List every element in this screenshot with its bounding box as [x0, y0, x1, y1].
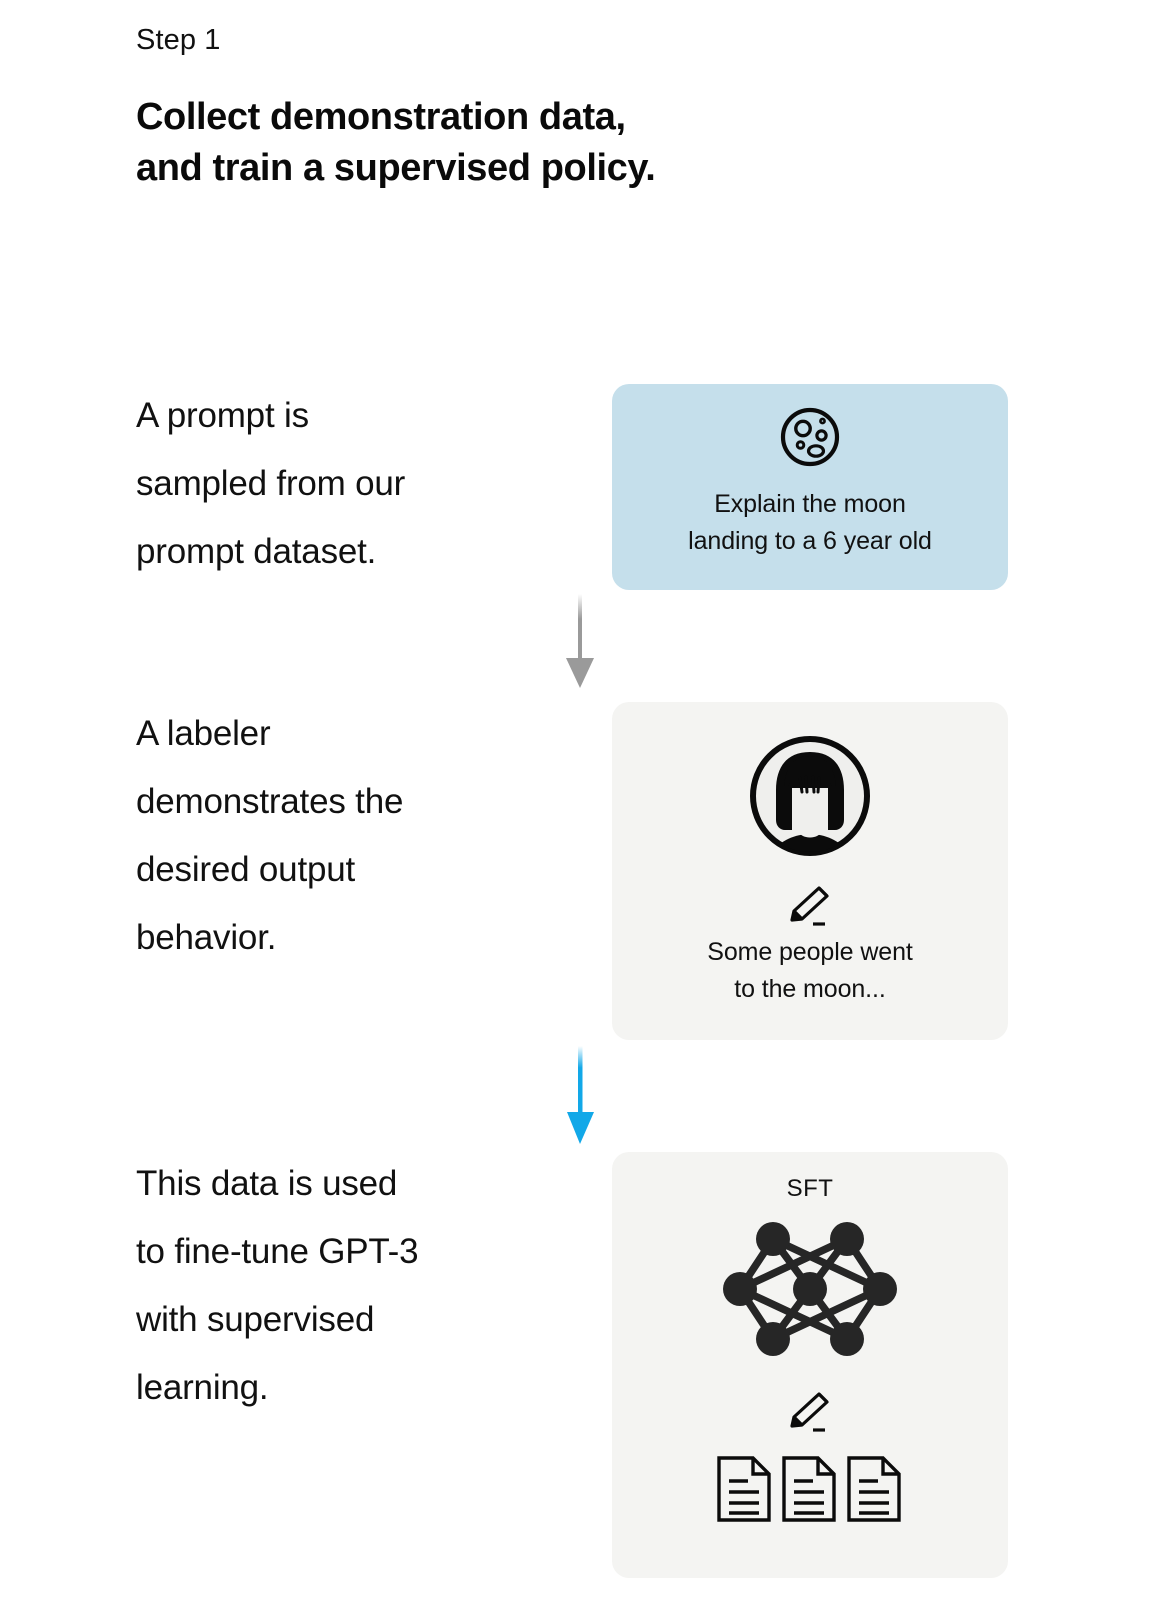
sft-label: SFT	[612, 1174, 1008, 1204]
description-supervised-finetuning: This data is used to fine-tune GPT-3 wit…	[136, 1150, 606, 1422]
arrow-prompt-to-labeler	[562, 594, 598, 690]
prompt-card-text: Explain the moon landing to a 6 year old	[612, 486, 1008, 560]
step-1-diagram: Step 1 Collect demonstration data, and t…	[0, 0, 1160, 1600]
pencil-icon	[782, 884, 838, 930]
moon-icon	[779, 406, 841, 468]
person-avatar-icon	[748, 734, 872, 858]
labeler-card-text: Some people went to the moon...	[612, 934, 1008, 1008]
step-label: Step 1	[136, 20, 220, 60]
description-labeler-demonstration: A labeler demonstrates the desired outpu…	[136, 700, 606, 972]
arrow-labeler-to-sft	[562, 1046, 598, 1146]
neural-network-icon	[718, 1214, 902, 1364]
labeler-card: Some people went to the moon...	[612, 702, 1008, 1040]
pencil-icon	[782, 1390, 838, 1436]
prompt-card: Explain the moon landing to a 6 year old	[612, 384, 1008, 590]
documents-icon	[715, 1454, 905, 1524]
description-prompt-sampling: A prompt is sampled from our prompt data…	[136, 382, 606, 586]
sft-card: SFT	[612, 1152, 1008, 1578]
page-title: Collect demonstration data, and train a …	[136, 92, 655, 194]
